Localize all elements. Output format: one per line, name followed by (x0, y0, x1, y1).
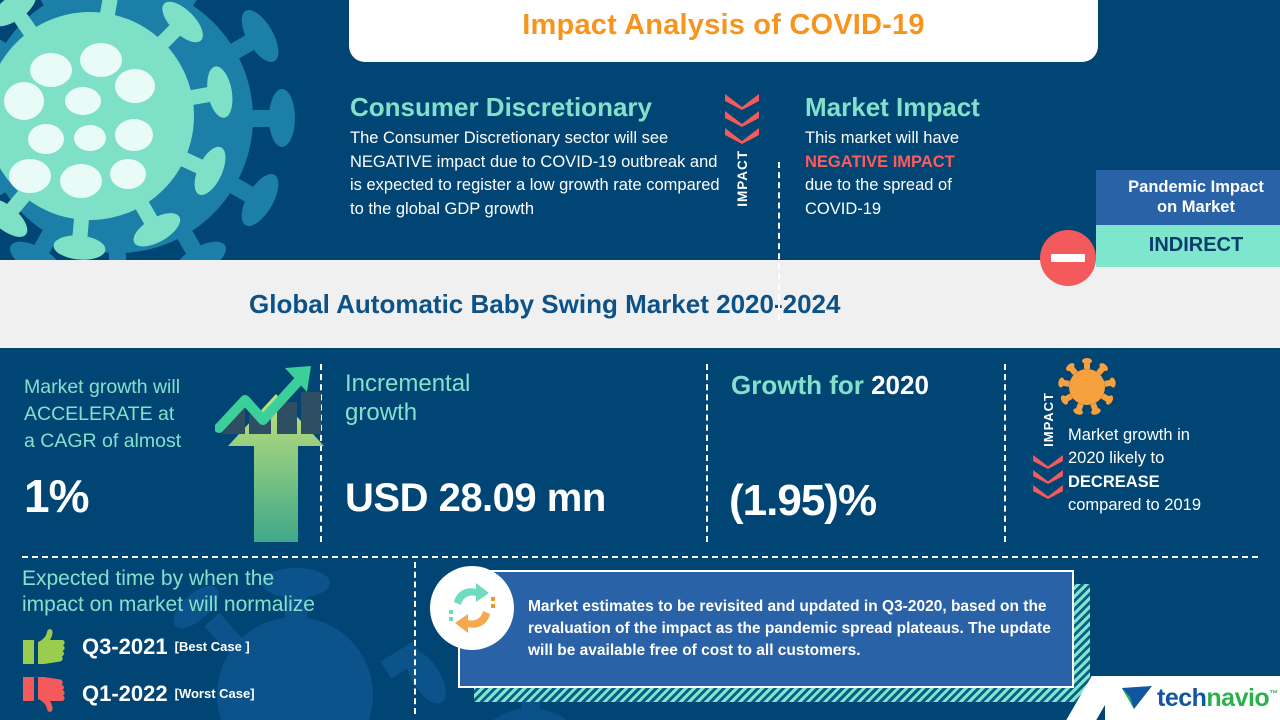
best-case-quarter: Q3-2021 (82, 634, 168, 660)
chevron-down-icon (1033, 455, 1063, 469)
minus-sign-icon (1040, 230, 1096, 286)
metrics-row: Market growth will ACCELERATE at a CAGR … (0, 348, 1280, 556)
normalize-time-block: Expected time by when the impact on mark… (22, 566, 414, 713)
callout-wrapper: Market estimates to be revisited and upd… (458, 570, 1078, 690)
thumbs-down-icon (22, 675, 66, 713)
chevron-down-icon (1033, 485, 1063, 499)
pandemic-impact-value: INDIRECT (1096, 225, 1280, 267)
metric-divider (706, 364, 708, 542)
impact-right-text: Market growth in 2020 likely to DECREASE… (1068, 424, 1273, 518)
impact-indicator-right: IMPACT (1028, 392, 1068, 499)
worst-case-label: [Worst Case] (175, 686, 255, 701)
trend-up-chart-icon (215, 362, 325, 440)
callout-text: Market estimates to be revisited and upd… (460, 588, 1072, 670)
chevron-down-icon (725, 111, 759, 127)
market-impact-line2: due to the spread of (805, 176, 952, 194)
technavio-logo: technavio™ (1105, 676, 1280, 720)
technavio-wordmark: technavio™ (1157, 684, 1278, 713)
incremental-growth-metric: Incremental growth (345, 370, 645, 428)
market-impact-block: Market Impact This market will have NEGA… (805, 92, 1035, 221)
title-card: Impact Analysis of COVID-19 (349, 0, 1098, 62)
logo-text-tech: tech (1157, 684, 1206, 712)
impact-indicator-top: IMPACT (721, 94, 763, 254)
worst-case-quarter: Q1-2022 (82, 681, 168, 707)
normalize-heading-line1: Expected time by when the (22, 567, 274, 590)
best-case-row: Q3-2021 [Best Case ] (22, 628, 414, 666)
cagr-label-line1: Market growth will (24, 376, 180, 398)
market-impact-line3: COVID-19 (805, 200, 881, 218)
thumbs-up-icon (22, 628, 66, 666)
consumer-discretionary-block: Consumer Discretionary The Consumer Disc… (350, 92, 720, 221)
normalize-heading-line2: impact on market will normalize (22, 593, 315, 616)
chevron-down-stack (725, 94, 759, 144)
logo-text-navio: navio (1206, 684, 1269, 712)
market-impact-body: This market will have NEGATIVE IMPACT du… (805, 127, 1035, 221)
growth-2020-value: (1.95)% (729, 476, 876, 526)
chevron-down-icon (1033, 470, 1063, 484)
pandemic-impact-header-line2: on Market (1157, 198, 1235, 216)
infographic-canvas: Impact Analysis of COVID-19 Consumer Dis… (0, 0, 1280, 720)
pandemic-impact-box: Pandemic Impact on Market INDIRECT (1096, 170, 1280, 267)
worst-case-row: Q1-2022 [Worst Case] (22, 675, 414, 713)
horizontal-divider (22, 556, 1258, 558)
chevron-down-stack-right (1033, 455, 1063, 499)
consumer-discretionary-heading: Consumer Discretionary (350, 92, 720, 123)
logo-trademark: ™ (1269, 688, 1278, 698)
incremental-growth-value: USD 28.09 mn (345, 476, 606, 521)
pandemic-impact-header-line1: Pandemic Impact (1128, 178, 1264, 196)
impact-right-line3: compared to 2019 (1068, 496, 1201, 514)
incremental-label-line1: Incremental (345, 370, 470, 397)
growth-2020-year: 2020 (871, 370, 929, 400)
incremental-label-line2: growth (345, 399, 417, 426)
vertical-divider (778, 162, 780, 320)
impact-right-line2: 2020 likely to (1068, 449, 1164, 467)
growth-2020-label: Growth for (731, 370, 871, 400)
chevron-down-icon (725, 128, 759, 144)
page-title: Impact Analysis of COVID-19 (522, 9, 924, 42)
market-title: Global Automatic Baby Swing Market 2020-… (249, 289, 840, 320)
best-case-label: [Best Case ] (175, 639, 250, 654)
market-impact-emphasis: NEGATIVE IMPACT (805, 153, 955, 171)
market-impact-heading: Market Impact (805, 92, 1035, 123)
refresh-cycle-icon (444, 580, 500, 636)
pandemic-impact-header: Pandemic Impact on Market (1096, 170, 1280, 225)
impact-right-emphasis: DECREASE (1068, 473, 1160, 491)
refresh-badge (430, 566, 514, 650)
top-info-band: Consumer Discretionary The Consumer Disc… (0, 74, 1280, 260)
cagr-label-line3: a CAGR of almost (24, 430, 181, 452)
callout-box: Market estimates to be revisited and upd… (458, 570, 1074, 688)
normalize-heading: Expected time by when the impact on mark… (22, 566, 414, 619)
market-impact-line1: This market will have (805, 129, 959, 147)
chevron-down-icon (725, 94, 759, 110)
technavio-mark-icon (1121, 685, 1153, 711)
impact-label: IMPACT (735, 150, 750, 207)
incremental-growth-label: Incremental growth (345, 370, 645, 428)
impact-right-line1: Market growth in (1068, 426, 1190, 444)
cagr-label-line2: ACCELERATE at (24, 403, 174, 425)
consumer-discretionary-body: The Consumer Discretionary sector will s… (350, 127, 720, 221)
growth-2020-metric: Growth for 2020 (731, 370, 1031, 401)
vertical-divider-bottom (414, 562, 416, 714)
impact-label-right: IMPACT (1041, 392, 1056, 447)
